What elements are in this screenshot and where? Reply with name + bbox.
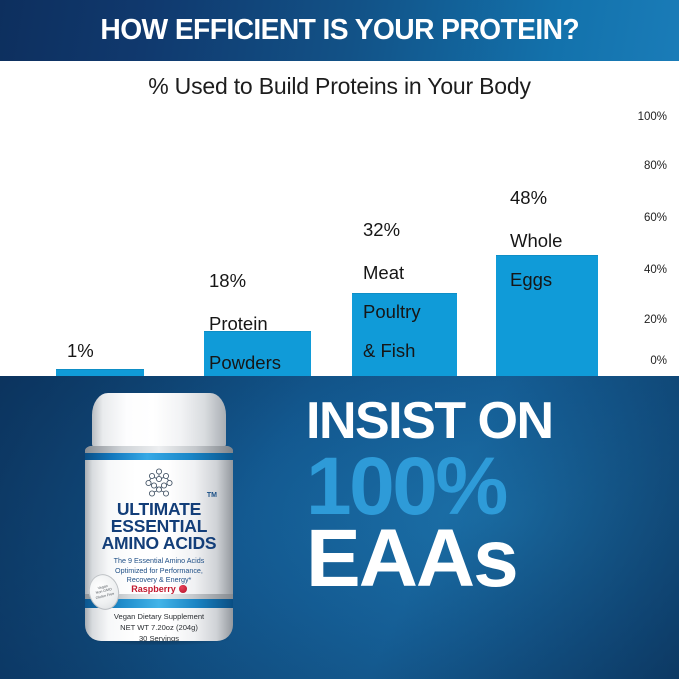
bar-label-whole-eggs: 48% Whole Eggs: [510, 169, 562, 308]
product-flavor-text: Raspberry: [131, 584, 176, 594]
y-tick-0: 0%: [650, 355, 667, 367]
y-axis: 100% 80% 60% 40% 20% 0%: [621, 61, 679, 376]
promo-text-block: INSIST ON 100% EAAs: [306, 396, 668, 598]
promo-line-eaas: EAAs: [306, 520, 668, 598]
bar-value-bcaas: 1%: [67, 340, 130, 361]
molecule-logo-icon: [140, 468, 178, 498]
y-tick-20: 20%: [644, 314, 667, 326]
y-tick-80: 80%: [644, 160, 667, 172]
page-title: HOW EFFICIENT IS YOUR PROTEIN?: [100, 14, 579, 47]
chart-area: % Used to Build Proteins in Your Body 10…: [0, 61, 679, 376]
bar-category-meat-line1: Meat: [363, 262, 421, 283]
bar-chart-plot: 100% 80% 60% 40% 20% 0% 1% BCAA's 18% Pr…: [0, 61, 679, 376]
bar-value-meat-poultry-fish: 32%: [363, 219, 421, 240]
raspberry-icon: [179, 585, 187, 593]
y-tick-60: 60%: [644, 212, 667, 224]
promo-panel: TM ULTIMATE ESSENTIAL AMINO ACIDS The 9 …: [0, 376, 679, 679]
jar-body: TM ULTIMATE ESSENTIAL AMINO ACIDS The 9 …: [85, 446, 233, 641]
bar-category-whole-eggs-line1: Whole: [510, 230, 562, 251]
bar-label-meat-poultry-fish: 32% Meat Poultry & Fish: [363, 201, 421, 379]
bar-category-protein-powders-line1: Protein: [209, 313, 281, 334]
bar-category-meat-line2: Poultry: [363, 301, 421, 322]
promo-line-insist-on: INSIST ON: [306, 396, 668, 447]
y-tick-40: 40%: [644, 264, 667, 276]
bar-category-protein-powders-line2: Powders: [209, 352, 281, 373]
bar-value-protein-powders: 18%: [209, 270, 281, 291]
y-tick-100: 100%: [638, 111, 667, 123]
bar-value-whole-eggs: 48%: [510, 187, 562, 208]
trademark-symbol: TM: [207, 492, 217, 499]
product-image[interactable]: TM ULTIMATE ESSENTIAL AMINO ACIDS The 9 …: [83, 393, 235, 641]
bar-category-meat-line3: & Fish: [363, 340, 421, 361]
product-footer-text: Vegan Dietary Supplement NET WT 7.20oz (…: [85, 612, 233, 641]
header-banner: HOW EFFICIENT IS YOUR PROTEIN?: [0, 0, 679, 61]
jar-top-silver-band: [85, 446, 233, 453]
infographic-page: HOW EFFICIENT IS YOUR PROTEIN? % Used to…: [0, 0, 679, 679]
product-brand-line3: AMINO ACIDS: [85, 533, 233, 554]
bar-label-protein-powders: 18% Protein Powders: [209, 252, 281, 391]
bar-category-whole-eggs-line2: Eggs: [510, 269, 562, 290]
jar-top-blue-band: [85, 453, 233, 460]
